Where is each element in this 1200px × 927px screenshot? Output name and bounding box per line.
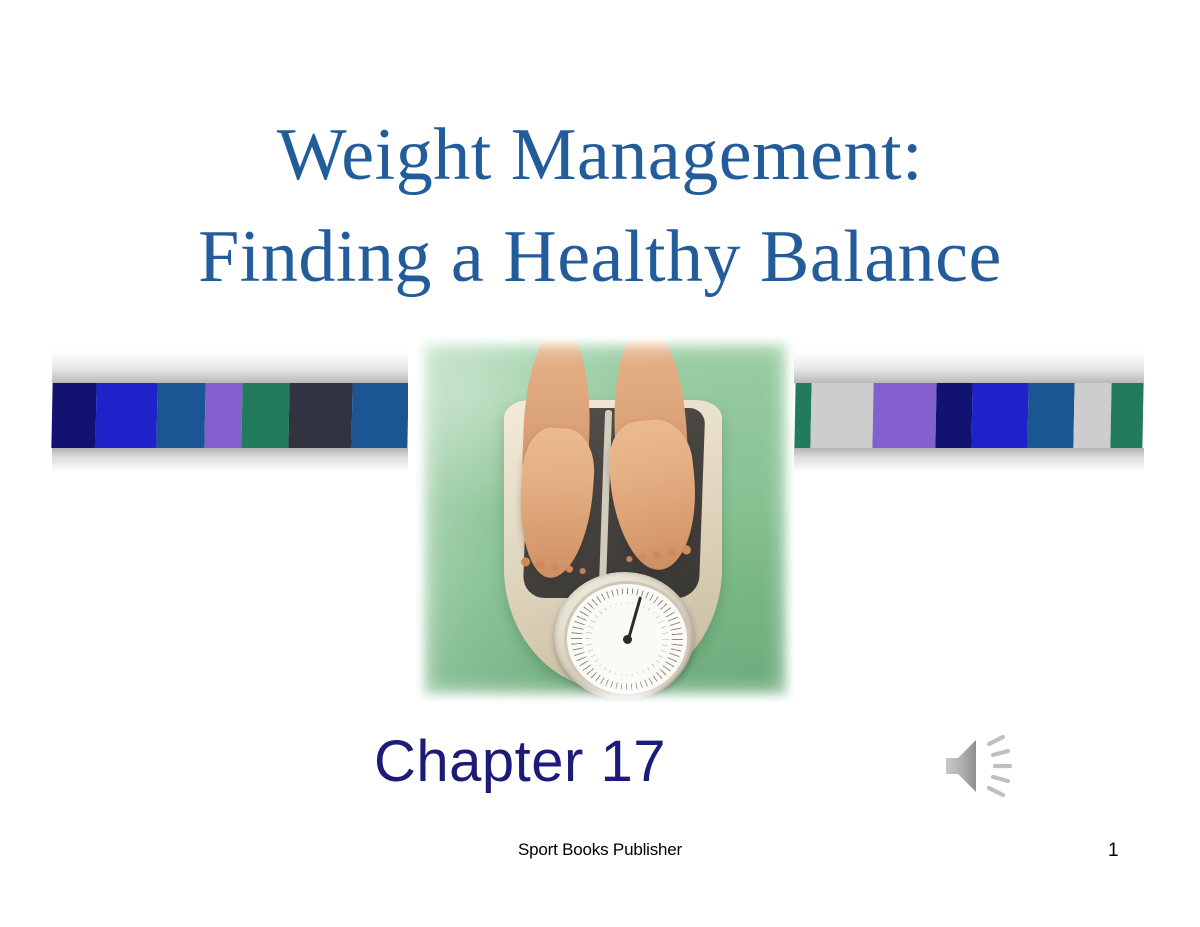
presentation-slide: Weight Management: Finding a Healthy Bal… bbox=[0, 0, 1200, 927]
bar-segment-left-1 bbox=[95, 383, 157, 448]
bar-segment-right-7 bbox=[1110, 383, 1143, 448]
speaker-icon[interactable] bbox=[942, 731, 1026, 801]
slide-title: Weight Management: Finding a Healthy Bal… bbox=[0, 104, 1200, 308]
bar-segment-left-2 bbox=[156, 383, 205, 448]
page-number: 1 bbox=[1108, 840, 1119, 862]
bar-segment-left-3 bbox=[204, 383, 242, 448]
bar-segment-right-4 bbox=[971, 383, 1028, 448]
dial-face bbox=[564, 581, 690, 697]
bar-segment-left-4 bbox=[241, 383, 289, 448]
bar-segment-right-3 bbox=[935, 383, 972, 448]
bar-segment-left-6 bbox=[351, 383, 408, 448]
bar-segment-left-0 bbox=[51, 383, 96, 448]
dial-hub bbox=[623, 635, 632, 644]
bar-segment-left-5 bbox=[288, 383, 352, 448]
bar-segment-right-2 bbox=[872, 383, 936, 448]
bar-segment-right-0 bbox=[794, 383, 811, 448]
feet-on-bathroom-scale-photo bbox=[416, 336, 794, 702]
publisher-credit: Sport Books Publisher bbox=[0, 840, 1200, 860]
bar-segment-right-5 bbox=[1027, 383, 1074, 448]
scale-dial bbox=[554, 572, 694, 700]
title-line-2: Finding a Healthy Balance bbox=[0, 206, 1200, 308]
bar-segment-right-1 bbox=[810, 383, 873, 448]
bar-segment-right-6 bbox=[1073, 383, 1111, 448]
carpet-background bbox=[416, 336, 794, 702]
title-line-1: Weight Management: bbox=[0, 104, 1200, 206]
